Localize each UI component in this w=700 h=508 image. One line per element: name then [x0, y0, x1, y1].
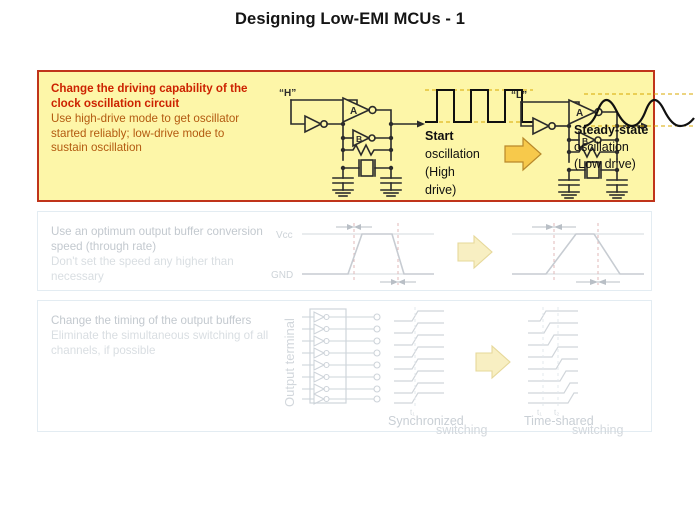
panel-1-heading: Change the driving capability of the clo… [51, 82, 263, 111]
svg-text:“L”: “L” [511, 90, 527, 101]
time-shared-caption-line2-wrap: switching [572, 423, 623, 437]
panel-3-heading: Change the timing of the output buffers [51, 313, 269, 328]
panel-clock-oscillation[interactable]: Change the driving capability of the clo… [37, 70, 655, 202]
panel-3-body: Eliminate the simultaneous switching of … [51, 328, 269, 358]
panel-2-body: Don't set the speed any higher than nece… [51, 254, 266, 284]
caption-oscillation: oscillation [574, 140, 629, 154]
caption-steady-state: Steady-state [574, 123, 648, 137]
svg-text:GND: GND [271, 270, 293, 281]
svg-text:B: B [356, 134, 362, 144]
svg-text:Start: Start [425, 129, 454, 143]
svg-text:drive): drive) [425, 183, 456, 197]
svg-text:“H”: “H” [279, 88, 296, 99]
svg-text:Output terminal: Output terminal [282, 318, 297, 407]
panel-1-right-caption-spacer [577, 180, 697, 190]
steady-state-caption: Steady-state oscillation (Low drive) [574, 122, 699, 173]
panel-1-body: Use high-drive mode to get oscillator st… [51, 112, 263, 156]
page-title: Designing Low-EMI MCUs - 1 [0, 10, 700, 29]
svg-text:A: A [350, 106, 357, 117]
svg-text:oscillation: oscillation [425, 147, 480, 161]
slew-rate-comparison-figure: Vcc GND [258, 215, 650, 289]
synchronized-caption-line2-wrap: switching [436, 423, 487, 437]
caption-low-drive: (Low drive) [574, 157, 636, 171]
panel-2-heading: Use an optimum output buffer conversion … [51, 224, 266, 254]
buffer-timing-comparison-figure: Output terminal [278, 303, 650, 429]
time-shared-switching-label: switching [572, 423, 623, 437]
panel-2-text: Use an optimum output buffer conversion … [51, 224, 266, 284]
panel-output-buffer-slew[interactable]: Use an optimum output buffer conversion … [37, 211, 652, 291]
panel-3-text: Change the timing of the output buffers … [51, 313, 269, 358]
panel-output-buffer-timing[interactable]: Change the timing of the output buffers … [37, 300, 652, 432]
panel-1-text: Change the driving capability of the clo… [51, 82, 263, 156]
svg-text:(High: (High [425, 165, 455, 179]
synchronized-switching-label: switching [436, 423, 487, 437]
svg-text:Vcc: Vcc [276, 230, 293, 241]
